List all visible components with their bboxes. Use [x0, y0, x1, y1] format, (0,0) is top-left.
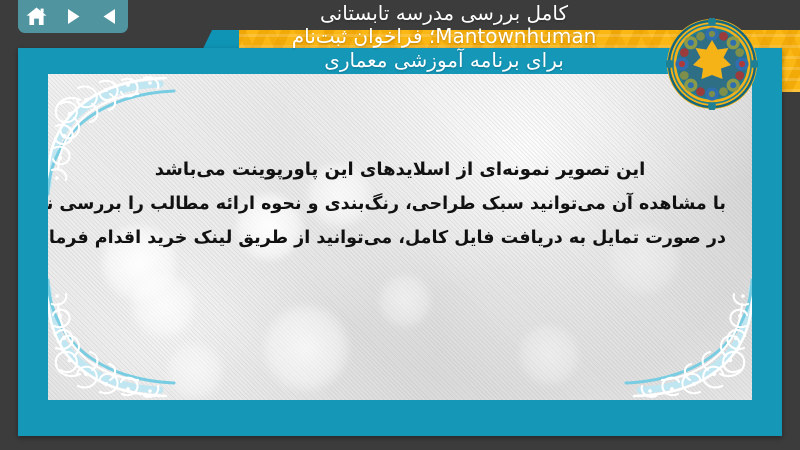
body-line-3: در صورت تمایل به دریافت فایل کامل، می‌تو…	[74, 221, 726, 255]
body-line-2: با مشاهده آن می‌توانید سبک طراحی، رنگ‌بن…	[74, 187, 726, 221]
bokeh-circle	[262, 304, 350, 392]
back-triangle-icon	[102, 8, 118, 25]
bokeh-circle	[166, 342, 224, 400]
slide-content-area: این تصویر نمونه‌ای از اسلایدهای این پاور…	[48, 74, 752, 400]
bokeh-circle	[378, 274, 432, 328]
slide-stage: کامل بررسی مدرسه تابستانی Mantownhuman؛ …	[0, 0, 800, 450]
home-button[interactable]	[23, 5, 49, 29]
navigation-bar	[18, 0, 128, 33]
body-line-1: این تصویر نمونه‌ای از اسلایدهای این پاور…	[74, 152, 726, 187]
persian-medallion-ornament	[666, 18, 758, 110]
forward-button[interactable]	[60, 5, 86, 29]
back-button[interactable]	[97, 5, 123, 29]
arabesque-corner-ornament	[602, 270, 752, 400]
forward-triangle-icon	[65, 8, 81, 25]
home-icon	[26, 7, 47, 26]
bokeh-circle	[518, 324, 580, 386]
bokeh-circle	[130, 272, 196, 338]
slide-body-text: این تصویر نمونه‌ای از اسلایدهای این پاور…	[48, 152, 752, 255]
arabesque-corner-ornament	[48, 270, 198, 400]
